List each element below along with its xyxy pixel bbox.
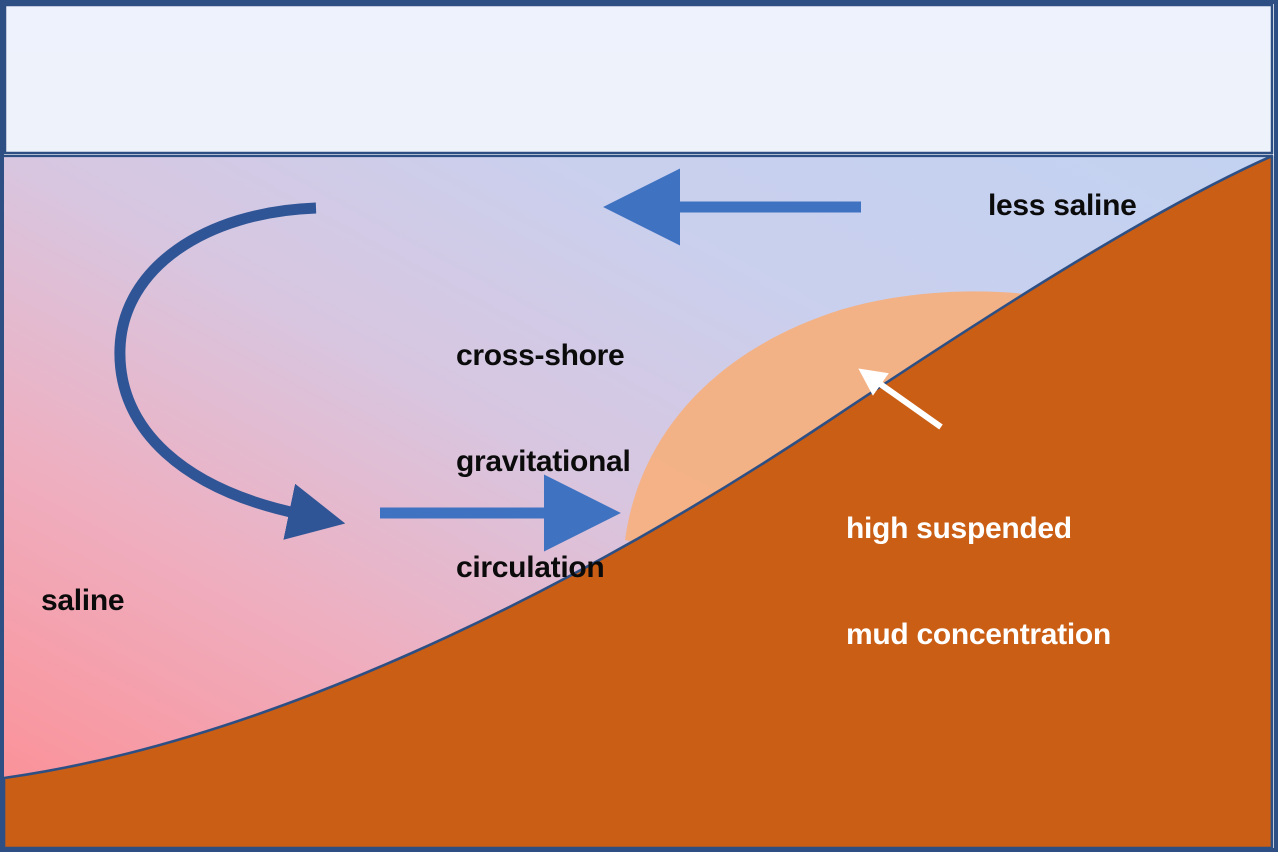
sky-panel	[5, 5, 1272, 153]
label-less-saline: less saline	[988, 188, 1136, 223]
scene-svg	[0, 0, 1278, 852]
label-circulation-line-2: gravitational	[456, 444, 630, 479]
label-saline: saline	[41, 583, 124, 618]
label-circulation-line-1: cross-shore	[456, 338, 630, 373]
label-mud-line-2: mud concentration	[846, 617, 1111, 652]
label-mud-group: high suspended mud concentration	[846, 440, 1111, 723]
diagram-canvas: less saline saline cross-shore gravitati…	[0, 0, 1278, 852]
label-circulation-line-3: circulation	[456, 550, 630, 585]
label-circulation-group: cross-shore gravitational circulation	[456, 267, 630, 656]
label-mud-line-1: high suspended	[846, 511, 1111, 546]
